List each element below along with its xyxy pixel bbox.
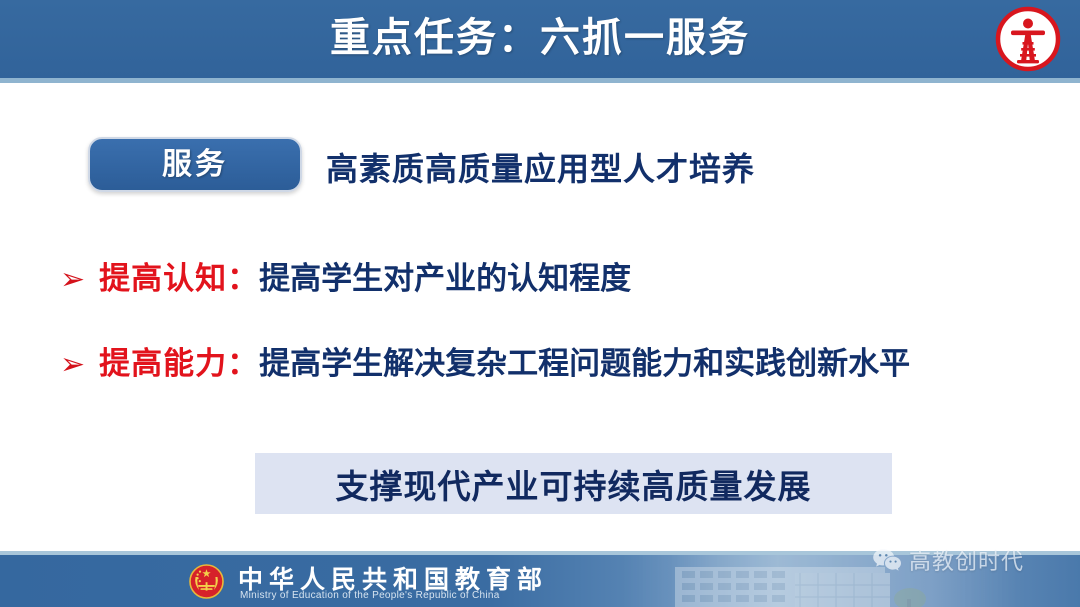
bullet-item-1: ➢ 提高认知： 提高学生对产业的认知程度 [60,253,631,298]
bullet-item-2: ➢ 提高能力： 提高学生解决复杂工程问题能力和实践创新水平 [60,338,910,383]
slide-title: 重点任务：六抓一服务 [0,6,1080,70]
service-pill-badge: 服务 [88,137,302,192]
watermark: 高教创时代 [872,544,1024,576]
service-pill-label: 服务 [90,139,300,190]
presentation-slide: 重点任务：六抓一服务 服务 高素质高质量应用型人才培养 ➢ 提高 [0,0,1080,607]
highlight-text: 支撑现代产业可持续高质量发展 [336,460,812,508]
arrow-bullet-icon: ➢ [60,350,85,380]
wechat-icon [872,548,902,572]
bullet-2-value: 提高学生解决复杂工程问题能力和实践创新水平 [259,338,910,383]
slide-body: 服务 高素质高质量应用型人才培养 ➢ 提高认知： 提高学生对产业的认知程度 ➢ … [0,83,1080,555]
highlight-callout-box: 支撑现代产业可持续高质量发展 [255,453,892,514]
slide-header: 重点任务：六抓一服务 [0,0,1080,78]
university-emblem-logo [994,5,1062,73]
bullet-1-value: 提高学生对产业的认知程度 [259,253,631,298]
arrow-bullet-icon: ➢ [60,265,85,295]
china-national-emblem [188,563,225,600]
bullet-2-key: 提高能力： [99,338,259,383]
bullet-1-key: 提高认知： [99,253,259,298]
watermark-text: 高教创时代 [909,544,1024,576]
service-statement: 高素质高质量应用型人才培养 [326,144,755,190]
ministry-name-en: Ministry of Education of the People's Re… [240,590,500,601]
